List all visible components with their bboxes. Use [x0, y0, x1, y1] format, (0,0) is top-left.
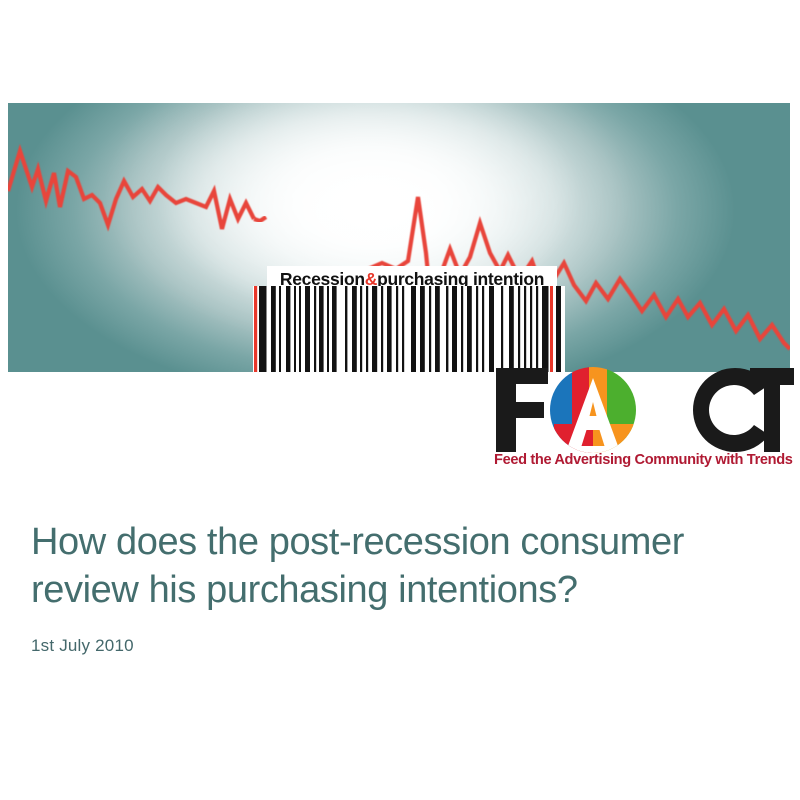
- fact-tagline: Feed the Advertising Community with Tren…: [494, 452, 794, 468]
- title-block: How does the post-recession consumer rev…: [31, 518, 771, 656]
- slide-date: 1st July 2010: [31, 636, 771, 656]
- trend-line-left-segment: [8, 151, 254, 229]
- barcode-bars: [253, 286, 565, 372]
- trend-line-barcode-connector: [254, 217, 266, 221]
- fact-logo: Feed the Advertising Community with Tren…: [492, 366, 794, 478]
- logo-letter-f: [496, 368, 548, 452]
- slide-canvas: Recession & purchasing intention: [0, 0, 800, 800]
- banner-image: Recession & purchasing intention: [8, 103, 790, 372]
- fact-wordmark: [492, 366, 794, 454]
- logo-letter-a-emblem: [550, 367, 637, 454]
- page-title: How does the post-recession consumer rev…: [31, 518, 771, 614]
- barcode-graphic: Recession & purchasing intention: [253, 266, 565, 372]
